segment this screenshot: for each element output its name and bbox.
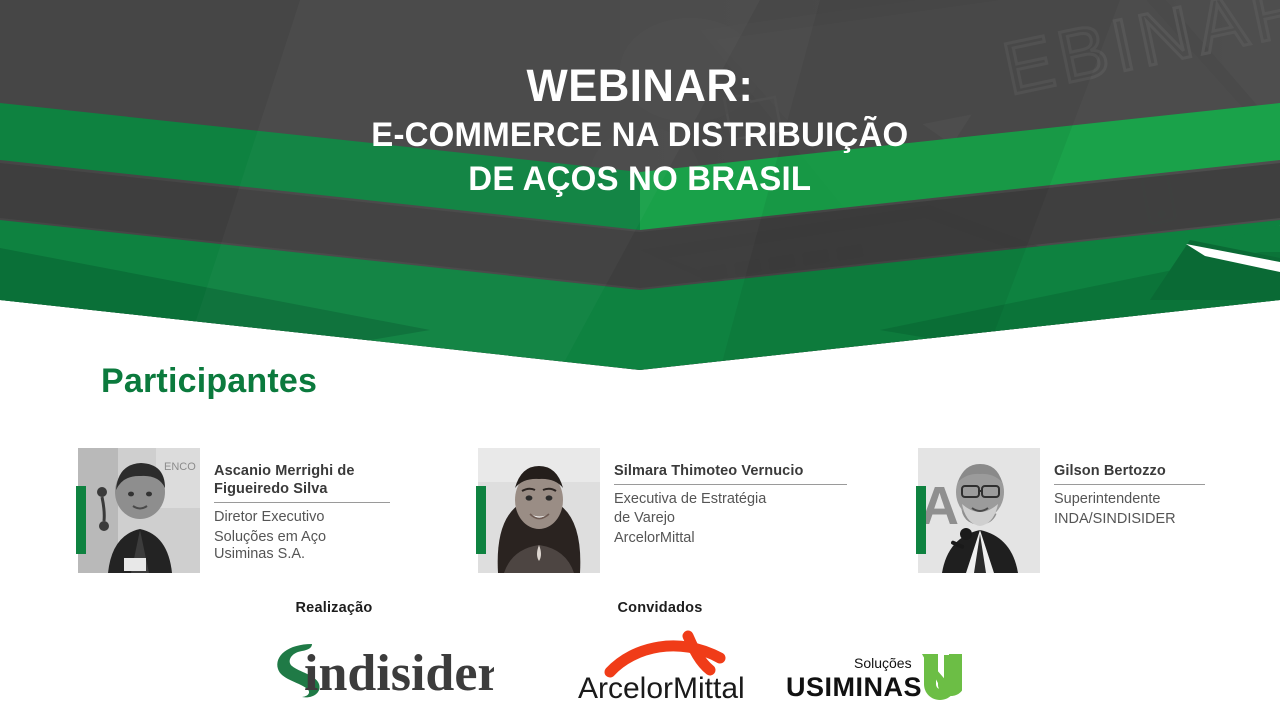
- usiminas-logo-graphic: Soluções USIMINAS: [786, 652, 962, 704]
- name-divider: [1054, 484, 1205, 485]
- participant-info: Silmara Thimoteo Vernucio Executiva de E…: [614, 448, 847, 547]
- participant-org: Soluções em Aço Usiminas S.A.: [214, 529, 390, 563]
- realizacao-block: Realização: [234, 600, 434, 616]
- participant-info: Ascanio Merrighi de Figueiredo Silva Dir…: [214, 448, 390, 563]
- participant-org: ArcelorMittal: [614, 530, 847, 547]
- participant-card: ENCO Ascanio Merrighi de Figueiredo: [78, 448, 390, 573]
- participantes-heading: Participantes: [101, 362, 317, 401]
- green-accent-bar: [476, 486, 486, 554]
- realizacao-caption: Realização: [234, 600, 434, 616]
- portrait-ascanio: ENCO: [78, 448, 200, 573]
- participant-info: Gilson Bertozzo Superintendente INDA/SIN…: [1054, 448, 1205, 528]
- participant-name: Gilson Bertozzo: [1054, 462, 1205, 480]
- portrait-silmara: [478, 448, 600, 573]
- photo-wrapper: AC: [918, 448, 1040, 573]
- svg-text:ENCO: ENCO: [164, 461, 196, 473]
- sindisider-logo: indisider: [268, 638, 494, 700]
- green-accent-bar: [916, 486, 926, 554]
- participant-photo: ENCO: [78, 448, 200, 573]
- name-divider: [214, 502, 390, 503]
- participant-role: Superintendente: [1054, 490, 1205, 509]
- name-divider: [614, 484, 847, 485]
- green-accent-bar: [76, 486, 86, 554]
- sindisider-wordmark: indisider: [304, 645, 494, 700]
- usiminas-logo: Soluções USIMINAS: [786, 652, 962, 704]
- participant-card: AC: [918, 448, 1205, 573]
- usiminas-wordmark: USIMINAS: [786, 672, 922, 702]
- participant-card: Silmara Thimoteo Vernucio Executiva de E…: [478, 448, 847, 573]
- participant-org: INDA/SINDISIDER: [1054, 511, 1205, 528]
- portrait-gilson: AC: [918, 448, 1040, 573]
- convidados-caption: Convidados: [560, 600, 760, 616]
- participant-photo: AC: [918, 448, 1040, 573]
- participant-name: Ascanio Merrighi de Figueiredo Silva: [214, 462, 390, 498]
- banner-graphic: EBINAR: [0, 0, 1280, 370]
- photo-wrapper: ENCO: [78, 448, 200, 573]
- participant-role: Diretor Executivo: [214, 508, 390, 527]
- photo-wrapper: [478, 448, 600, 573]
- arcelormittal-logo: ArcelorMittal: [576, 628, 744, 704]
- convidados-block: Convidados: [560, 600, 760, 616]
- arcelormittal-logo-graphic: ArcelorMittal: [576, 628, 744, 704]
- arcelormittal-swoosh: [610, 636, 720, 672]
- arcelormittal-wordmark: ArcelorMittal: [578, 672, 744, 704]
- sindisider-logo-graphic: indisider: [268, 638, 494, 700]
- participant-name: Silmara Thimoteo Vernucio: [614, 462, 847, 480]
- participants-list: ENCO Ascanio Merrighi de Figueiredo: [0, 440, 1280, 585]
- usiminas-solucoes-text: Soluções: [854, 655, 912, 671]
- participant-photo: [478, 448, 600, 573]
- header-banner: EBINAR: [0, 0, 1280, 370]
- participant-role: Executiva de Estratégia de Varejo: [614, 490, 847, 528]
